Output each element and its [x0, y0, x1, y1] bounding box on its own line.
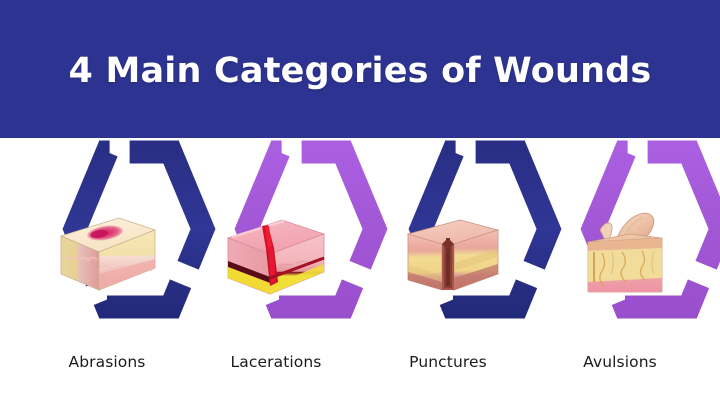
- category-label-abrasions: Abrasions: [17, 353, 197, 371]
- title-banner: 4 Main Categories of Wounds: [0, 0, 720, 138]
- wound-categories-infographic: 4 Main Categories of Wounds: [0, 0, 720, 404]
- category-label-avulsions: Avulsions: [530, 353, 710, 371]
- hexagon-chain-row: Abrasions Lacerations Punctures Avulsion…: [0, 138, 720, 404]
- avulsion-illustration: [570, 208, 678, 300]
- category-labels: Abrasions Lacerations Punctures Avulsion…: [0, 353, 720, 393]
- abrasion-illustration: [53, 208, 161, 300]
- page-title: 4 Main Categories of Wounds: [69, 54, 652, 89]
- puncture-illustration: [398, 208, 506, 300]
- category-label-lacerations: Lacerations: [186, 353, 366, 371]
- category-label-punctures: Punctures: [358, 353, 538, 371]
- laceration-illustration: [222, 208, 330, 300]
